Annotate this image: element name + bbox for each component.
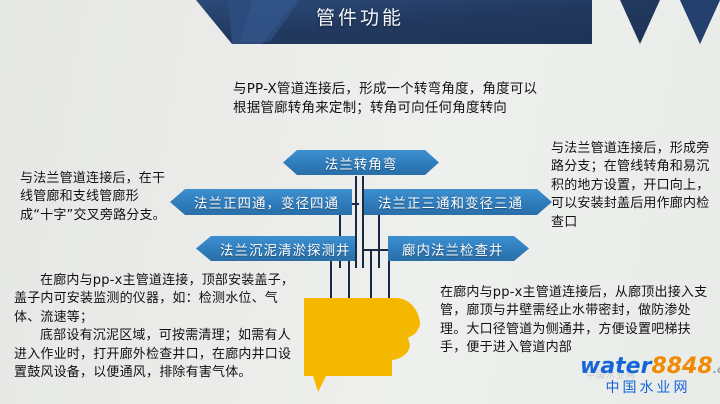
text-left-middle-body: 与法兰管道连接后，在干线管廊和支线管廊形成“十字”交叉旁路分支。 bbox=[20, 170, 170, 225]
page-title: 管件功能 bbox=[0, 3, 720, 30]
text-bottom-left-p2: 底部设有沉泥区域，可按需清理；如需有人进入作业时，打开廊外检查井口，在廊内井口设… bbox=[14, 327, 296, 382]
connector-line-center-right bbox=[362, 176, 364, 268]
text-bottom-right-body: 在廊内与pp-x主管道连接后，从廊顶出接入支管，廊顶与井壁需经止水带密封，做防渗… bbox=[440, 284, 710, 358]
watermark-number-text: 8848 bbox=[651, 354, 712, 379]
label-tee[interactable]: 法兰正三通和变径三通 bbox=[364, 189, 552, 215]
label-corner-bend[interactable]: 法兰转角弯 bbox=[283, 150, 439, 175]
text-top-center-body: 与PP-X管道连接后，形成一个转弯角度，角度可以根据管廊转角来定制；转角可向任何… bbox=[233, 80, 545, 118]
text-left-middle: 与法兰管道连接后，在干线管廊和支线管廊形成“十字”交叉旁路分支。 bbox=[20, 170, 170, 225]
watermark-cn-text: 中国水业网 bbox=[580, 381, 716, 395]
label-silt-well-text: 法兰沉泥清淤探测井 bbox=[220, 239, 351, 259]
label-tee-text: 法兰正三通和变径三通 bbox=[378, 192, 523, 212]
connector-line-center-lower-right bbox=[370, 250, 372, 300]
text-right-middle: 与法兰管道连接后，形成旁路分支；在管线转角和易沉积的地方设置，开口向上，可以安装… bbox=[551, 140, 716, 232]
label-silt-well[interactable]: 法兰沉泥清淤探测井 bbox=[196, 236, 355, 261]
title-banner: 管件功能 bbox=[0, 0, 720, 52]
text-bottom-left: 在廊内与pp-x主管道连接，顶部安装盖子，盖子内可安装监测的仪器，如：检测水位、… bbox=[14, 272, 296, 383]
label-inspection-well-text: 廊内法兰检查井 bbox=[402, 239, 504, 259]
label-corner-bend-text: 法兰转角弯 bbox=[325, 153, 398, 173]
watermark-water-text: water bbox=[580, 354, 651, 379]
label-inspection-well[interactable]: 廊内法兰检查井 bbox=[388, 236, 529, 261]
watermark-tld-text: .com bbox=[713, 363, 720, 376]
watermark: water8848.com 中国水业网 bbox=[580, 356, 716, 395]
label-cross-tee-text: 法兰正四通，变径四通 bbox=[194, 192, 339, 212]
text-bottom-left-p1: 在廊内与pp-x主管道连接，顶部安装盖子，盖子内可安装监测的仪器，如：检测水位、… bbox=[14, 272, 296, 327]
connector-line-center-left bbox=[355, 176, 357, 268]
slide-canvas: 管件功能 法兰转角弯 法兰正四通，变径四通 法兰正三通和变径三通 法兰沉泥清淤探… bbox=[0, 0, 720, 404]
text-bottom-right: 在廊内与pp-x主管道连接后，从廊顶出接入支管，廊顶与井壁需经止水带密封，做防渗… bbox=[440, 284, 710, 358]
head-silhouette-icon bbox=[296, 296, 446, 404]
label-cross-tee[interactable]: 法兰正四通，变径四通 bbox=[170, 189, 352, 215]
text-right-middle-body: 与法兰管道连接后，形成旁路分支；在管线转角和易沉积的地方设置，开口向上，可以安装… bbox=[551, 140, 716, 232]
text-top-center: 与PP-X管道连接后，形成一个转弯角度，角度可以根据管廊转角来定制；转角可向任何… bbox=[233, 80, 545, 118]
watermark-brand: water8848.com bbox=[580, 356, 716, 378]
